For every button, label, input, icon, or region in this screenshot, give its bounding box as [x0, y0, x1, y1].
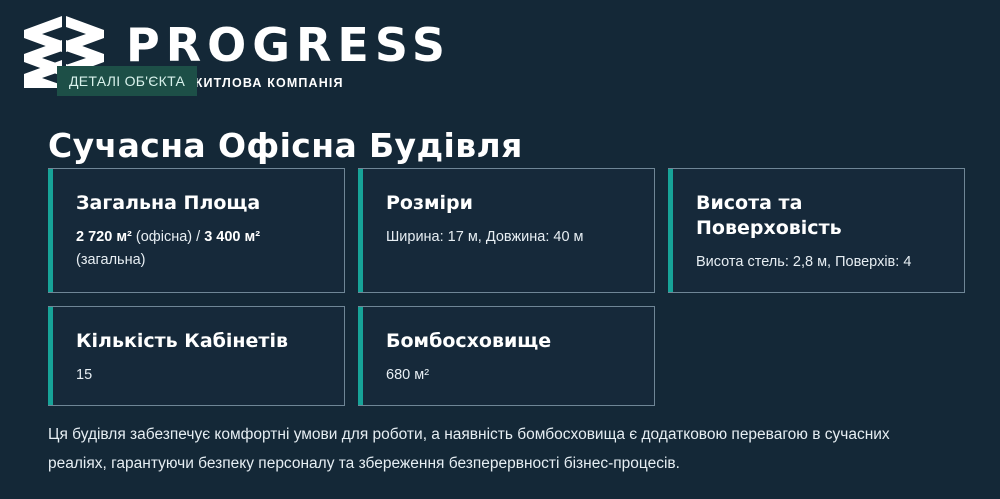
- card-title-line-2: Поверховість: [696, 217, 842, 239]
- card-title: Висота таПоверховість: [696, 191, 944, 241]
- summary-paragraph: Ця будівля забезпечує комфортні умови дл…: [48, 420, 948, 478]
- card-value-office-area: 2 720 м²: [76, 229, 132, 245]
- card-title: Бомбосховище: [386, 329, 634, 354]
- card-title-line-1: Висота та: [696, 192, 802, 214]
- card-title: Кількість Кабінетів: [76, 329, 324, 354]
- spec-card-total-area: Загальна Площа 2 720 м² (офісна) / 3 400…: [48, 168, 345, 293]
- spec-card-row-bottom: Кількість Кабінетів 15 Бомбосховище 680 …: [48, 306, 966, 406]
- page-title: Сучасна Офісна Будівля: [48, 126, 523, 166]
- card-value: Ширина: 17 м, Довжина: 40 м: [386, 226, 634, 249]
- spec-card-row-top: Загальна Площа 2 720 м² (офісна) / 3 400…: [48, 168, 966, 293]
- card-value-total-area: 3 400 м²: [204, 229, 260, 245]
- brand-company-type: ЖИТЛОВА КОМПАНІЯ: [191, 76, 344, 90]
- card-title: Розміри: [386, 191, 634, 216]
- card-spacer: [386, 249, 634, 274]
- card-value: 15: [76, 364, 324, 387]
- card-accent-bar: [48, 307, 53, 405]
- spec-card-height-floors: Висота таПоверховість Висота стель: 2,8 …: [668, 168, 965, 293]
- card-value-office-label: (офісна) /: [132, 229, 204, 245]
- card-accent-bar: [358, 169, 363, 292]
- spec-card-bomb-shelter: Бомбосховище 680 м²: [358, 306, 655, 406]
- card-accent-bar: [668, 169, 673, 292]
- section-eyebrow-badge: ДЕТАЛІ ОБ'ЄКТА: [57, 66, 197, 96]
- card-value: 680 м²: [386, 364, 634, 387]
- spec-card-dimensions: Розміри Ширина: 17 м, Довжина: 40 м: [358, 168, 655, 293]
- spec-card-grid: Загальна Площа 2 720 м² (офісна) / 3 400…: [48, 168, 966, 406]
- card-value: 2 720 м² (офісна) / 3 400 м² (загальна): [76, 226, 324, 272]
- card-spacer: [76, 272, 324, 274]
- card-value: Висота стель: 2,8 м, Поверхів: 4: [696, 251, 944, 274]
- slide-root: PROGRESS ЖИТЛОВА КОМПАНІЯ ДЕТАЛІ ОБ'ЄКТА…: [0, 0, 1000, 499]
- card-title: Загальна Площа: [76, 191, 324, 216]
- card-accent-bar: [48, 169, 53, 292]
- spec-card-office-count: Кількість Кабінетів 15: [48, 306, 345, 406]
- brand-wordmark: PROGRESS: [126, 22, 451, 68]
- card-accent-bar: [358, 307, 363, 405]
- card-value-total-label: (загальна): [76, 252, 146, 268]
